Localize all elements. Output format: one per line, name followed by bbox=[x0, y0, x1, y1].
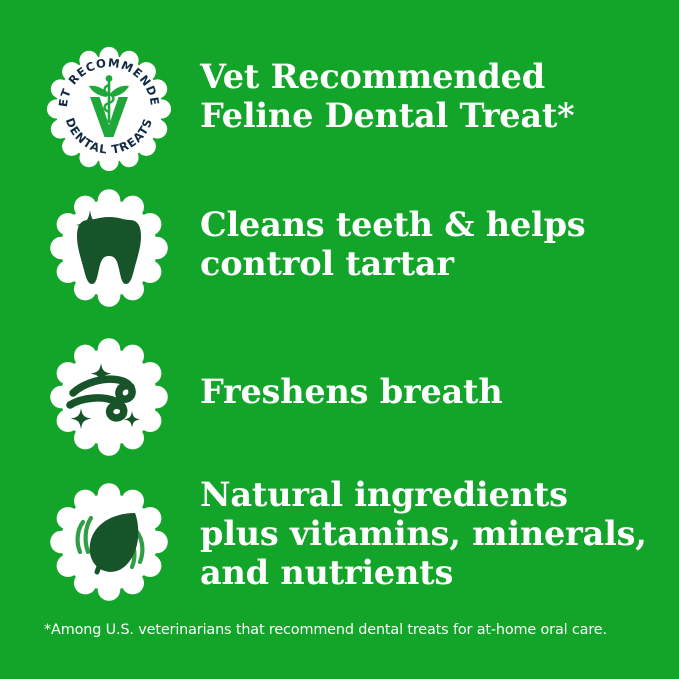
vet-recommended-seal-icon: VET RECOMMENDED DENTAL TREATS bbox=[47, 47, 171, 171]
fresh-breath-wind-icon bbox=[47, 335, 171, 459]
feature-heading: Cleans teeth & helps control tartar bbox=[200, 205, 585, 283]
product-feature-panel: VET RECOMMENDED DENTAL TREATS bbox=[0, 0, 679, 679]
feature-heading: Natural ingredients plus vitamins, miner… bbox=[200, 475, 647, 593]
feature-heading: Vet Recommended Feline Dental Treat* bbox=[200, 57, 575, 135]
footnote-disclaimer: *Among U.S. veterinarians that recommend… bbox=[44, 621, 607, 640]
leaf-icon bbox=[47, 480, 171, 604]
feature-heading: Freshens breath bbox=[200, 372, 503, 411]
sparkling-tooth-icon bbox=[47, 186, 171, 310]
